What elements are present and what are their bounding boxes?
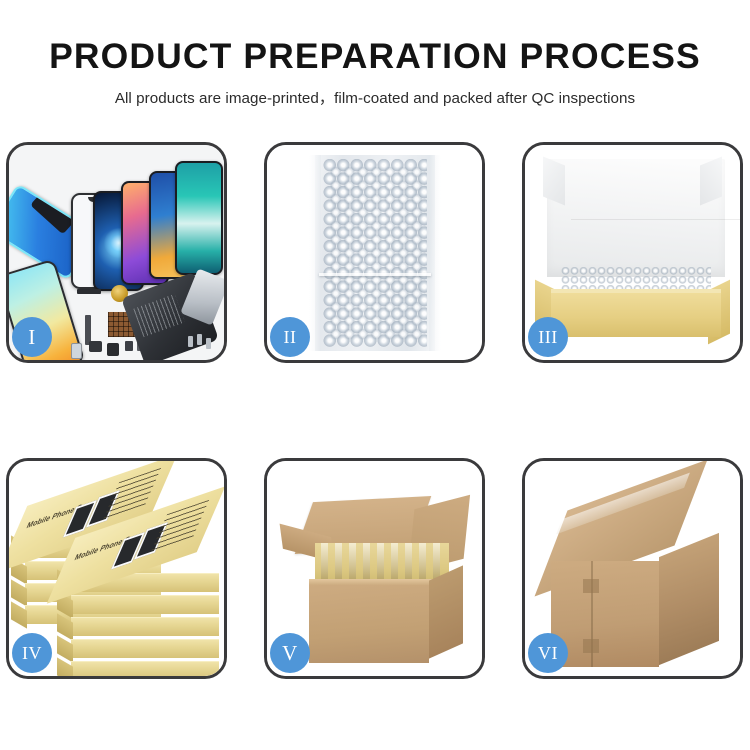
step-badge-5: V bbox=[270, 633, 310, 673]
foam-lid-crease bbox=[571, 219, 740, 220]
bubble-wrap-sheet bbox=[315, 155, 435, 351]
retail-box-edge bbox=[71, 617, 219, 636]
sim-tray-part bbox=[71, 343, 82, 359]
bubble-wrap-edge-right bbox=[429, 155, 441, 351]
page-title: PRODUCT PREPARATION PROCESS bbox=[0, 0, 750, 75]
earpiece-mesh-part bbox=[77, 289, 101, 294]
retail-box-edge bbox=[71, 595, 219, 614]
button-part bbox=[125, 341, 133, 351]
step-panel-1: I bbox=[6, 142, 227, 363]
carton-hand-hole bbox=[583, 579, 599, 593]
retail-box-edge bbox=[71, 639, 219, 658]
inner-box-front bbox=[551, 293, 721, 337]
vibrator-part bbox=[107, 343, 119, 356]
step-panel-5: V bbox=[264, 458, 485, 679]
retail-box-edge bbox=[71, 661, 219, 676]
carton-side-right bbox=[429, 565, 463, 658]
sealed-carton-side bbox=[659, 533, 719, 665]
step-badge-6: VI bbox=[528, 633, 568, 673]
step-panel-3: III bbox=[522, 142, 743, 363]
phone-teal-wallpaper bbox=[175, 161, 223, 275]
carton-front bbox=[309, 585, 429, 663]
bubble-pattern-overlay bbox=[329, 166, 425, 342]
step-badge-1: I bbox=[12, 317, 52, 357]
screws-group bbox=[188, 334, 218, 350]
steps-grid: I II bbox=[6, 142, 744, 679]
step-badge-2: II bbox=[270, 317, 310, 357]
carton-hand-hole bbox=[583, 639, 599, 653]
speaker-part bbox=[89, 341, 102, 352]
product-preparation-infographic: PRODUCT PREPARATION PROCESS All products… bbox=[0, 0, 750, 750]
step-badge-4: IV bbox=[12, 633, 52, 673]
bubble-wrap-edge-left bbox=[309, 155, 321, 351]
bubble-wrap-seam bbox=[319, 273, 431, 276]
page-subtitle: All products are image-printed，film-coat… bbox=[0, 75, 750, 108]
foam-lid-panel bbox=[547, 159, 725, 277]
header: PRODUCT PREPARATION PROCESS All products… bbox=[0, 0, 750, 108]
step-panel-2: II bbox=[264, 142, 485, 363]
foam-lid-flap-left bbox=[543, 157, 565, 206]
step-panel-4: Mobile Phone Spare Parts Mobile Phone Sp… bbox=[6, 458, 227, 679]
step-panel-6: VI bbox=[522, 458, 743, 679]
step-badge-3: III bbox=[528, 317, 568, 357]
